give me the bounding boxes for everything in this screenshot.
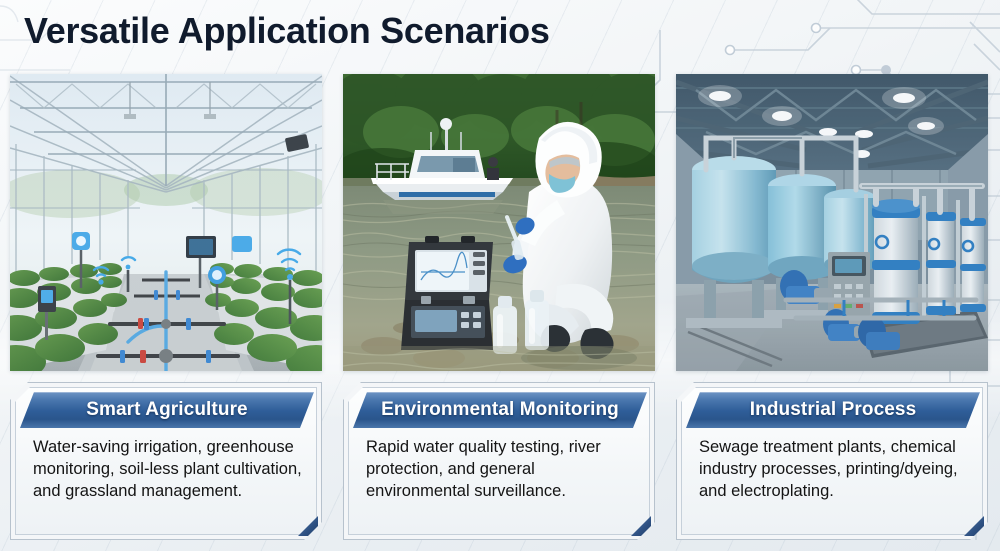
- greenhouse-hydroponics-photo: [10, 74, 322, 371]
- card-body-text: Sewage treatment plants, chemical indust…: [699, 437, 971, 503]
- scenario-card-environmental-monitoring[interactable]: Environmental Monitoring Rapid water qua…: [343, 382, 655, 540]
- card-header-environmental-monitoring: Environmental Monitoring: [353, 392, 647, 428]
- river-water-sampling-photo: [343, 74, 655, 371]
- water-treatment-plant-photo: [676, 74, 988, 371]
- card-heading-text: Environmental Monitoring: [381, 399, 619, 421]
- card-header-smart-agriculture: Smart Agriculture: [20, 392, 314, 428]
- slide-root: Versatile Application Scenarios: [0, 0, 1000, 551]
- scenario-column-environmental-monitoring: Environmental Monitoring Rapid water qua…: [343, 74, 655, 540]
- scenario-card-smart-agriculture[interactable]: Smart Agriculture Water-saving irrigatio…: [10, 382, 322, 540]
- scenario-column-smart-agriculture: Smart Agriculture Water-saving irrigatio…: [10, 74, 322, 540]
- card-header-industrial-process: Industrial Process: [686, 392, 980, 428]
- card-body-text: Rapid water quality testing, river prote…: [366, 437, 638, 503]
- scenario-columns: Smart Agriculture Water-saving irrigatio…: [10, 74, 990, 540]
- card-heading-text: Industrial Process: [750, 399, 917, 421]
- page-title: Versatile Application Scenarios: [24, 10, 550, 52]
- scenario-card-industrial-process[interactable]: Industrial Process Sewage treatment plan…: [676, 382, 988, 540]
- scenario-column-industrial-process: Industrial Process Sewage treatment plan…: [676, 74, 988, 540]
- portable-analyzer-case: [401, 236, 493, 350]
- card-body-text: Water-saving irrigation, greenhouse moni…: [33, 437, 305, 503]
- greenhouse-illustration: [10, 74, 322, 371]
- water-treatment-illustration: [676, 74, 988, 371]
- card-heading-text: Smart Agriculture: [86, 399, 247, 421]
- river-sampling-illustration: [343, 74, 655, 371]
